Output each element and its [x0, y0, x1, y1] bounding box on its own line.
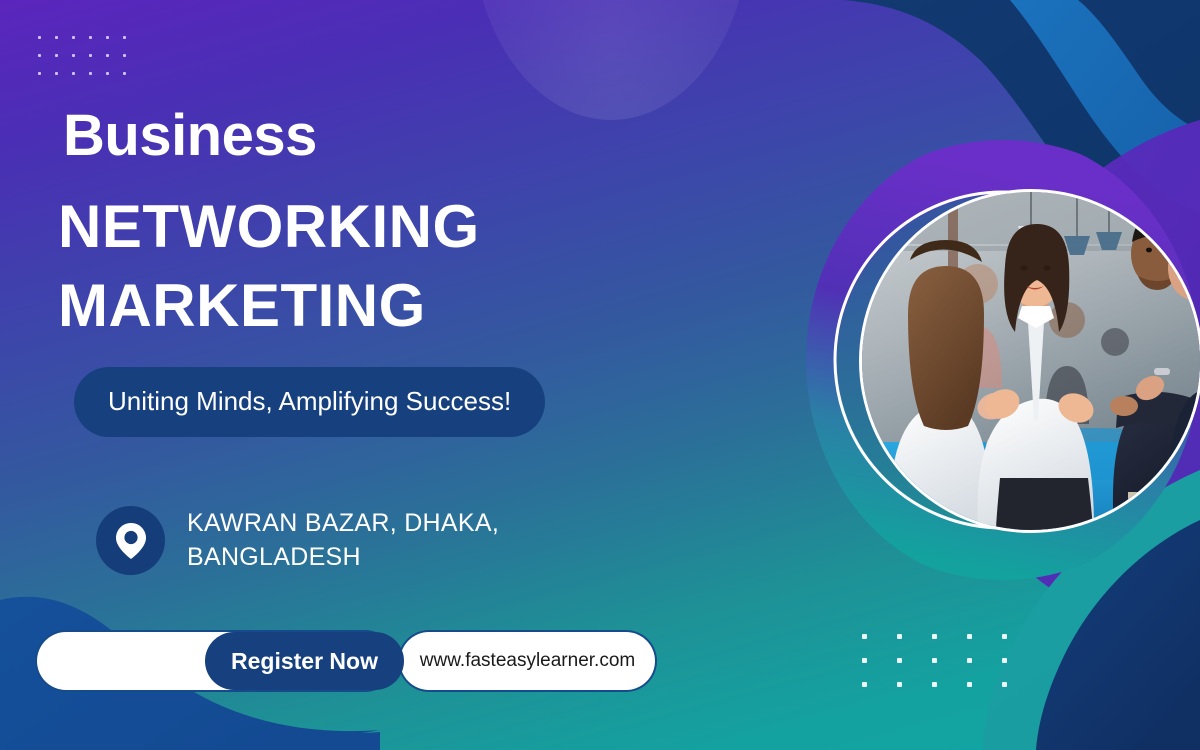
text-content-column: Business NETWORKING MARKETING Uniting Mi… — [0, 0, 820, 750]
headline-line-2: MARKETING — [58, 267, 798, 346]
website-pill[interactable]: www.fasteasylearner.com — [400, 632, 655, 690]
location-line-1: KAWRAN BAZAR, DHAKA, — [187, 509, 499, 537]
page-title: NETWORKING MARKETING — [58, 188, 798, 345]
kicker-text: Business — [63, 107, 317, 165]
location-row: KAWRAN BAZAR, DHAKA, BANGLADESH — [96, 506, 517, 575]
hero-photo-container — [806, 136, 1200, 584]
cta-bar: +8801975-016973 www.fasteasylearner.com … — [205, 632, 655, 690]
hero-photo — [862, 192, 1200, 530]
map-pin-icon — [96, 506, 165, 575]
register-now-button[interactable]: Register Now — [205, 632, 404, 690]
dot-grid-bottom-right — [862, 634, 1007, 687]
location-line-2: BANGLADESH — [187, 543, 361, 571]
website-url: www.fasteasylearner.com — [420, 650, 635, 672]
location-label: KAWRAN BAZAR, DHAKA, BANGLADESH — [187, 507, 517, 574]
tagline-pill: Uniting Minds, Amplifying Success! — [74, 367, 545, 437]
promotional-banner: Business NETWORKING MARKETING Uniting Mi… — [0, 0, 1200, 750]
headline-line-1: NETWORKING — [58, 193, 480, 260]
networking-photo-illustration — [862, 192, 1200, 530]
